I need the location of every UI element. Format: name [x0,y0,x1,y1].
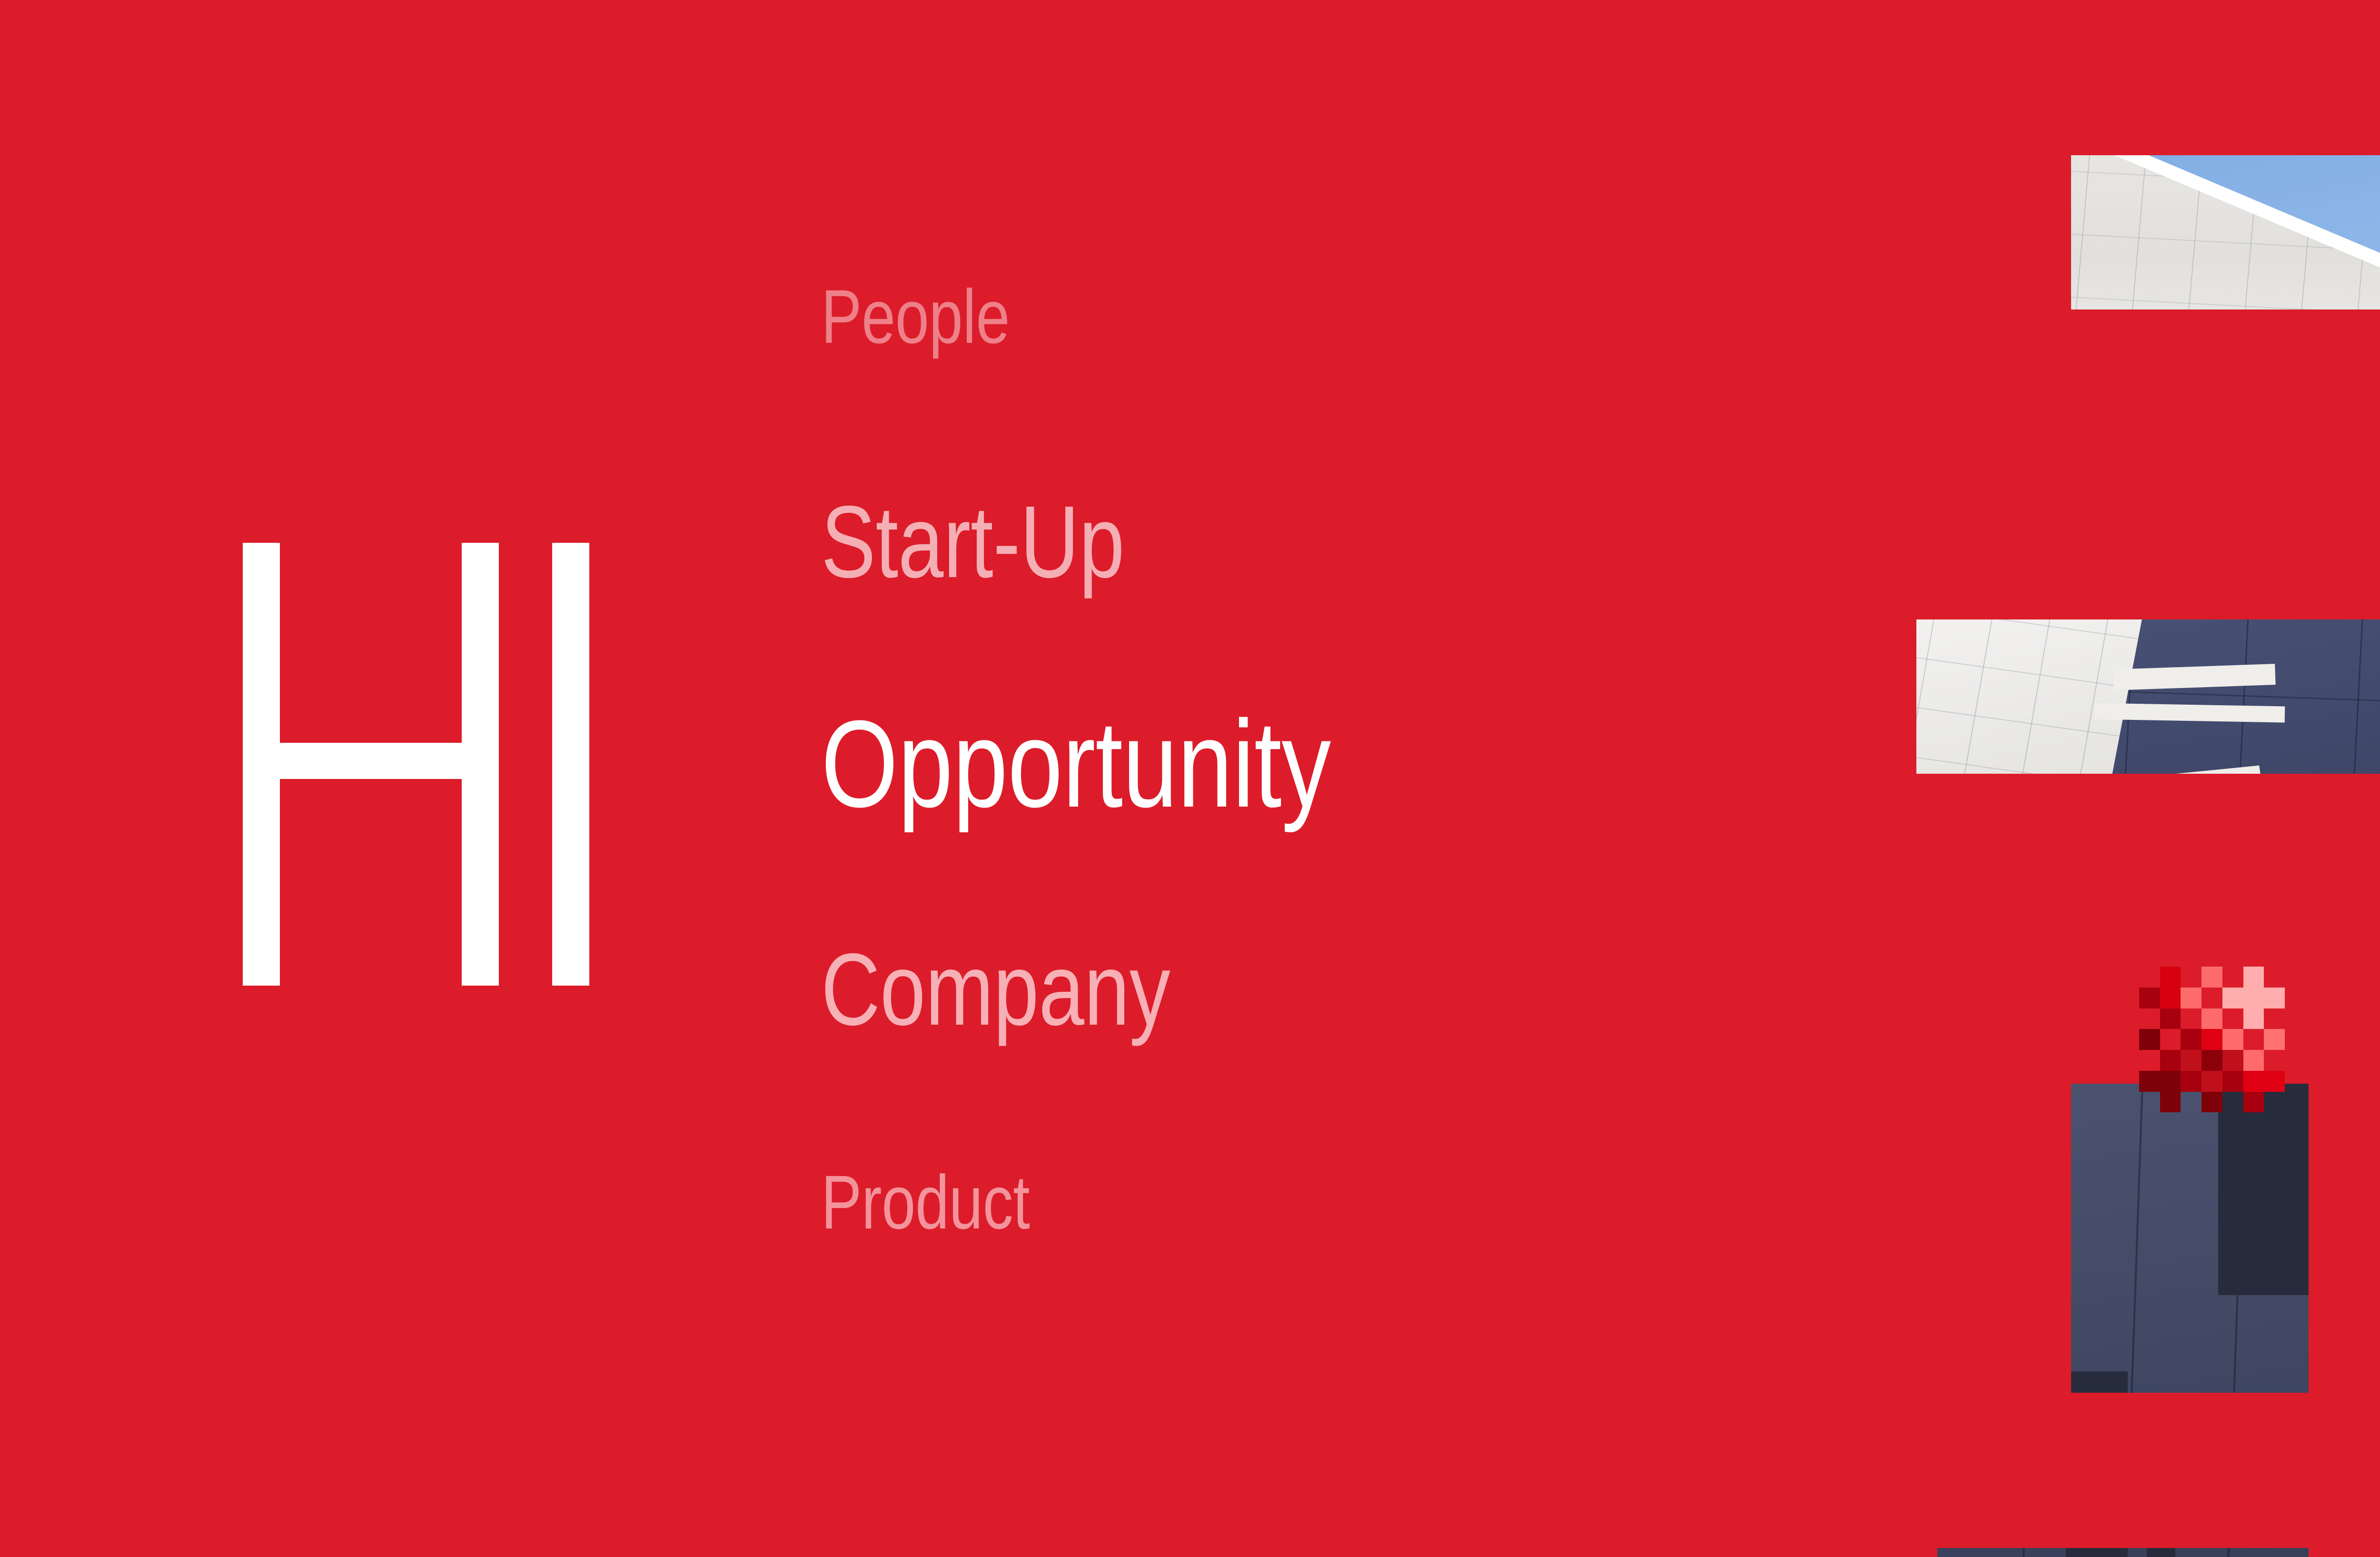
mask-tile [1761,619,1916,774]
pixel-cell [2139,1050,2160,1071]
ladder-item-people[interactable]: People [821,279,1010,355]
pixel-cell [2139,967,2160,988]
mask-tile [1916,464,2071,619]
pixel-cell [2201,1071,2222,1092]
pixel-cell [2356,214,2380,238]
pixel-cell [2160,988,2181,1008]
pixel-cell [2160,1092,2181,1113]
pixel-cell [2160,967,2181,988]
pixel-cell [2160,1029,2181,1050]
pixel-cross-glyph [2356,143,2380,333]
pixel-cell [2222,1050,2243,1071]
mask-tile [1916,1238,2071,1393]
pixel-cell [2160,1008,2181,1029]
pixel-cell [2356,262,2380,286]
logo-h-crossbar [243,743,499,779]
mask-tile [1916,155,2071,310]
pixel-cell [2139,1071,2160,1092]
pixel-cell [2222,1029,2243,1050]
photo-mosaic: park.by [1761,0,2380,1557]
mask-tile [1916,1393,2071,1548]
mask-tile [2071,464,2226,619]
mask-tile [1761,464,1916,619]
pixel-cell [2181,1008,2201,1029]
mask-tile [1761,1393,1916,1548]
pixel-cell [2201,1029,2222,1050]
pixel-cell [2243,1029,2264,1050]
pixel-cell [2243,967,2264,988]
logo-i-stem [552,543,589,986]
pixel-cell [2118,988,2139,1008]
pixel-cell [2181,1071,2201,1092]
mask-tile [1761,1083,1916,1238]
pixel-cell [2139,988,2160,1008]
mask-tile [1916,928,2071,1084]
pixel-cell [2139,1008,2160,1029]
pixel-cell [2264,1092,2285,1113]
pixel-cell [2118,1071,2139,1092]
pixel-cell [2160,1071,2181,1092]
pixel-cell [2356,238,2380,262]
pixel-cell [2243,1112,2264,1133]
mask-tile [1761,928,1916,1084]
pixel-cell [2118,967,2139,988]
facade-graphic-stripe-2 [2094,703,2285,723]
pixel-cell [2222,1112,2243,1133]
pixel-cell [2264,988,2285,1008]
mask-tile [1761,309,1916,465]
pixel-cell [2139,1092,2160,1113]
pixel-cell [2356,190,2380,214]
slide-canvas: People Start-Up Opportunity Company Prod… [0,0,2380,1557]
pixel-cell [2201,1008,2222,1029]
pixel-cell [2201,988,2222,1008]
pixel-cell [2160,1112,2181,1133]
mask-tile [1761,774,1916,929]
pixel-cell [2201,1092,2222,1113]
pixel-cell [2264,1071,2285,1092]
pixel-cell [2356,286,2380,309]
ladder-item-product[interactable]: Product [821,1164,1030,1240]
pixel-cell [2118,1029,2139,1050]
mask-tile [1916,0,2071,155]
pixel-cell [2243,1008,2264,1029]
mask-tile [2225,1393,2380,1548]
mask-tile [2225,774,2380,929]
pixel-cell [2222,967,2243,988]
pixel-cell [2356,167,2380,190]
pixel-cell [2201,967,2222,988]
pixel-cell [2264,1112,2285,1133]
pixel-cell [2118,1092,2139,1113]
pixel-cell [2356,143,2380,167]
pixel-cell [2201,1050,2222,1071]
mask-tile [2071,1393,2226,1548]
pixel-cell [2181,967,2201,988]
mask-tile [1761,155,1916,310]
mask-tile [1916,1083,2071,1238]
mask-tile [1916,309,2071,465]
mask-tile [2225,0,2380,155]
pixel-cell [2181,1112,2201,1133]
pixel-cell [2243,988,2264,1008]
pixel-cell [2222,1092,2243,1113]
pixel-cell [2181,1050,2201,1071]
pixel-cell [2118,1008,2139,1029]
pixel-cell [2139,1112,2160,1133]
mask-tile [2071,0,2226,155]
pixel-cell [2264,1029,2285,1050]
pixel-cell [2181,1092,2201,1113]
pixel-cell [2264,967,2285,988]
pixel-cell [2243,1071,2264,1092]
pixel-cell [2181,1029,2201,1050]
pixel-cell [2222,1008,2243,1029]
pixel-cell [2160,1050,2181,1071]
pixel-cell [2139,1029,2160,1050]
pixel-hash-glyph [2118,967,2285,1133]
pixel-cell [2264,1050,2285,1071]
word-ladder: People Start-Up Opportunity Company Prod… [821,250,1702,1297]
pixel-cell [2118,1112,2139,1133]
mask-tile [1761,1238,1916,1393]
ladder-item-opportunity[interactable]: Opportunity [821,702,1331,826]
pixel-cell [2356,309,2380,333]
pixel-cell [2201,1112,2222,1133]
ladder-item-start-up[interactable]: Start-Up [821,490,1124,593]
mask-tile [2071,309,2226,465]
pixel-cell [2222,988,2243,1008]
pixel-cell [2181,988,2201,1008]
mask-tile [1761,0,1916,155]
pixel-cell [2243,1092,2264,1113]
pixel-cell [2243,1050,2264,1071]
mask-tile [2071,774,2226,929]
ladder-item-company[interactable]: Company [821,938,1170,1040]
pixel-cell [2222,1071,2243,1092]
pixel-cell [2264,1008,2285,1029]
mask-tile [1916,774,2071,929]
brand-logo-hi [243,543,714,986]
mask-tile [2225,464,2380,619]
pixel-cell [2118,1050,2139,1071]
